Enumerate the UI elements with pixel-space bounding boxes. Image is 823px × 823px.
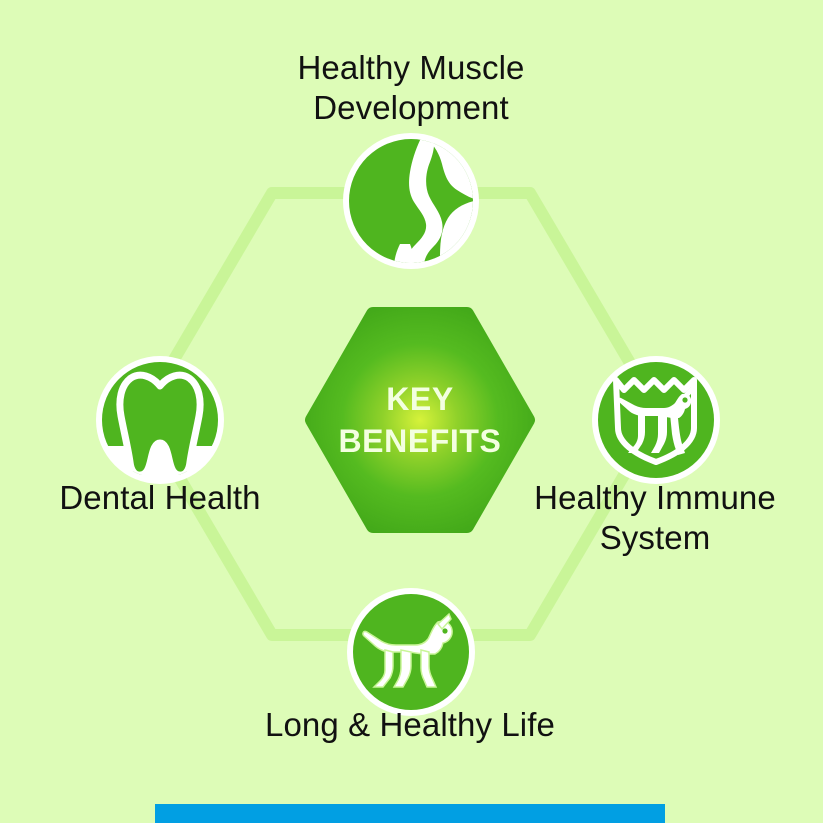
tooth-icon [90,350,230,490]
node-healthy-immune-system[interactable] [586,350,726,490]
label-dental-health: Dental Health [10,478,310,518]
node-healthy-muscle-development[interactable] [336,126,486,276]
node-dental-health[interactable] [90,350,230,490]
dog-eye [442,628,447,633]
label-healthy-immune-system: Healthy Immune System [500,478,810,558]
label-healthy-muscle-development: Healthy Muscle Development [211,48,611,128]
bottom-accent-bar [155,804,665,823]
label-long-and-healthy-life: Long & Healthy Life [205,705,615,745]
node-long-and-healthy-life[interactable] [341,582,481,722]
infographic-canvas: KEY BENEFITS [0,0,823,823]
